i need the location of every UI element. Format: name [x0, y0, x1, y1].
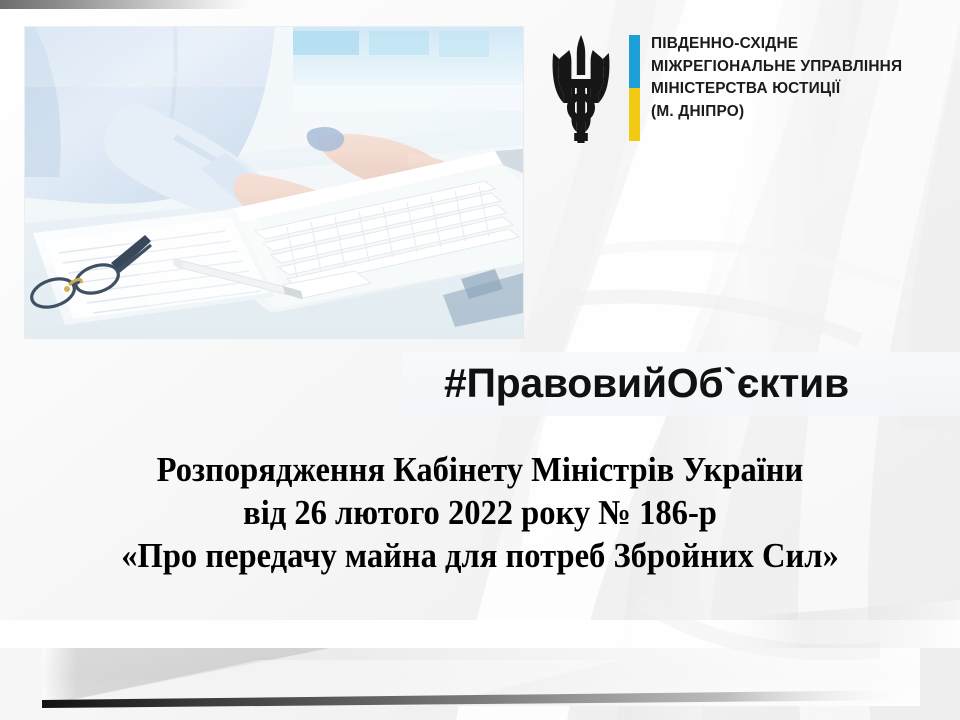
- document-title-line-1: Розпорядження Кабінету Міністрів України: [34, 448, 927, 491]
- laptop-typing-photo: Людина у блакитній сорочці друкує на біл…: [25, 27, 523, 338]
- hero-photo: Людина у блакитній сорочці друкує на біл…: [25, 27, 523, 338]
- top-left-wedge-decoration: [0, 0, 250, 9]
- ukraine-trident-emblem-icon: [547, 33, 615, 143]
- ministry-logo: ПІВДЕННО-СХІДНЕ МІЖРЕГІОНАЛЬНЕ УПРАВЛІНН…: [547, 33, 902, 143]
- logo-line-4: (М. ДНІПРО): [651, 101, 902, 124]
- document-title-block: Розпорядження Кабінету Міністрів України…: [0, 448, 960, 577]
- logo-line-3: МІНІСТЕРСТВА ЮСТИЦІЇ: [651, 78, 902, 101]
- ukraine-flag-stripe-icon: [629, 35, 640, 141]
- logo-line-2: МІЖРЕГІОНАЛЬНЕ УПРАВЛІННЯ: [651, 56, 902, 79]
- document-title-line-3: «Про передачу майна для потреб Збройних …: [34, 534, 927, 577]
- logo-line-1: ПІВДЕННО-СХІДНЕ: [651, 33, 902, 56]
- hashtag-title: #ПравовийОб`єктив: [444, 363, 944, 404]
- document-title-line-2: від 26 лютого 2022 року № 186-р: [34, 491, 927, 534]
- slide-canvas: Людина у блакитній сорочці друкує на біл…: [0, 0, 960, 720]
- ministry-logo-text: ПІВДЕННО-СХІДНЕ МІЖРЕГІОНАЛЬНЕ УПРАВЛІНН…: [651, 33, 902, 124]
